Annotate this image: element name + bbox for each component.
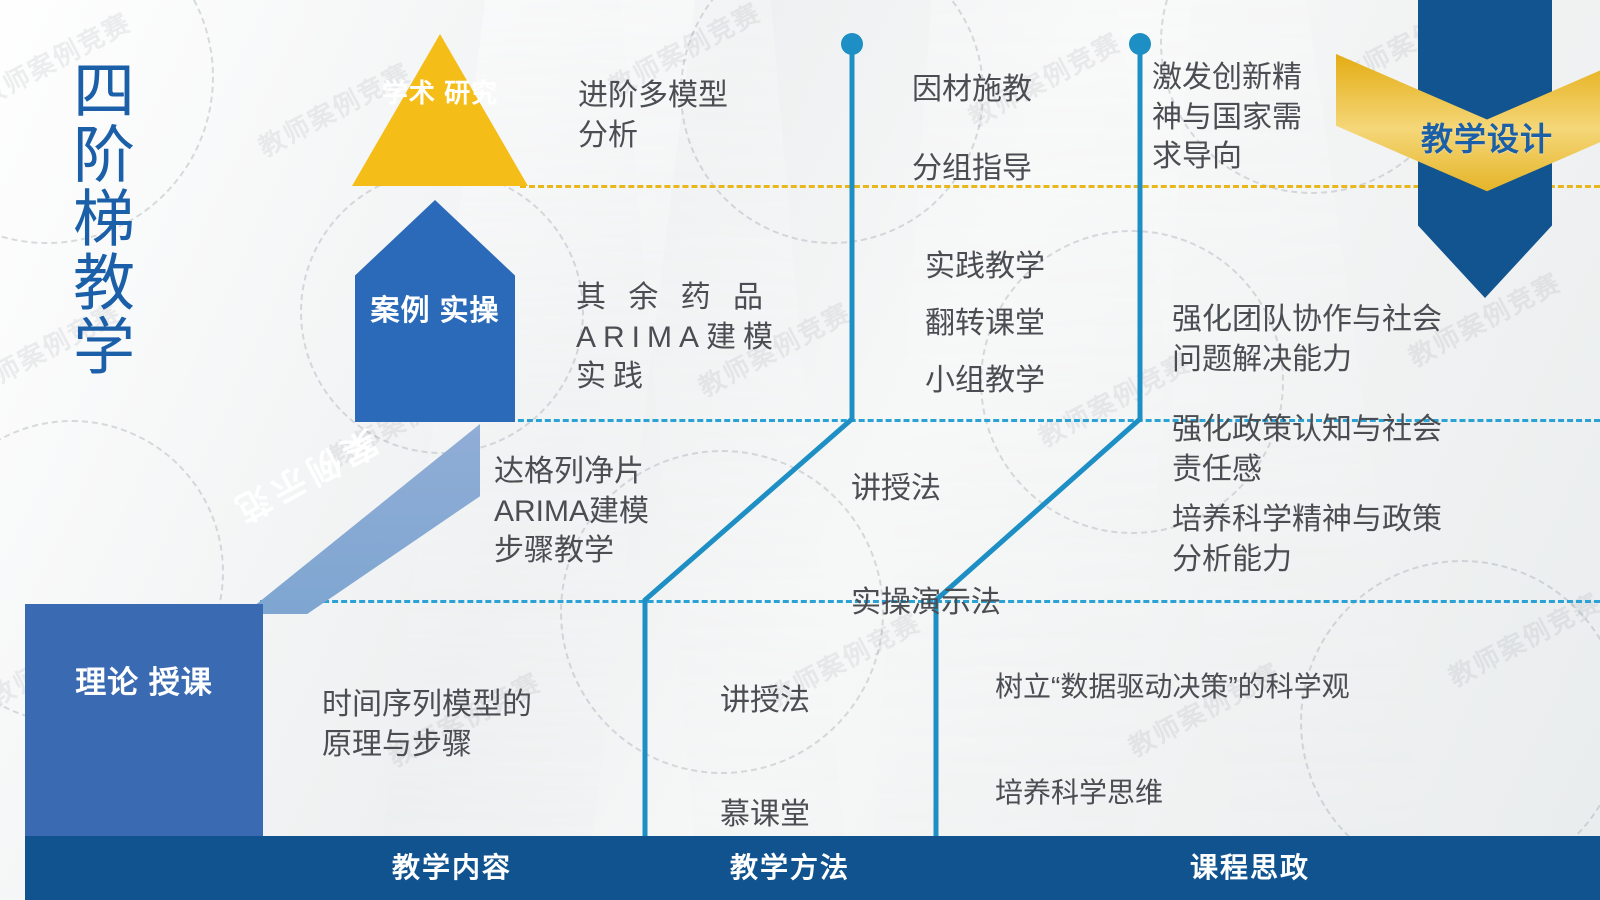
- cell-case-demo-content: 达格列净片 ARIMA建模 步骤教学: [494, 452, 794, 571]
- stage-label-case-practice: 案例 实操: [355, 290, 515, 332]
- cell-academic-method: 因材施教 分组指导: [912, 70, 1142, 189]
- stage-label-theory-lecture: 理论 授课: [25, 660, 263, 707]
- cell-extra-ideology: 培养科学精神与政策 分析能力: [1172, 500, 1592, 579]
- cell-academic-content: 进阶多模型 分析: [578, 76, 848, 155]
- footer-column-ideology: 课程思政: [1010, 836, 1490, 900]
- cell-theory-lecture-content: 时间序列模型的 原理与步骤: [322, 685, 652, 764]
- cell-case-demo-ideology: 强化政策认知与社会 责任感: [1172, 410, 1592, 489]
- teaching-design-ribbon: 教学设计: [1374, 0, 1600, 298]
- slide-canvas: 教师案例竞赛 教师案例竞赛 教师案例竞赛 教师案例竞赛 教师案例竞赛 教师案例竞…: [0, 0, 1600, 900]
- stage-label-academic: 学术 研究: [352, 76, 528, 110]
- cell-theory-lecture-ideology: 树立“数据驱动决策”的科学观 培养科学思维: [995, 660, 1575, 820]
- stage-shape-theory-lecture: [25, 604, 263, 836]
- footer-column-content: 教学内容: [262, 836, 642, 900]
- cell-case-demo-method: 讲授法 实操演示法: [851, 460, 1111, 631]
- cell-case-practice-content: 其 余 药 品 ARIMA建模 实践: [576, 278, 856, 397]
- page-title: 四阶梯教学: [44, 58, 136, 378]
- cell-academic-ideology: 激发创新精 神与国家需 求导向: [1152, 58, 1362, 177]
- footer-column-method: 教学方法: [645, 836, 935, 900]
- cell-theory-lecture-method: 讲授法 慕课堂: [720, 672, 920, 843]
- cell-case-practice-ideology: 强化团队协作与社会 问题解决能力: [1172, 300, 1592, 379]
- cell-case-practice-method: 实践教学 翻转课堂 小组教学: [925, 238, 1165, 409]
- ribbon-label: 教学设计: [1374, 114, 1600, 160]
